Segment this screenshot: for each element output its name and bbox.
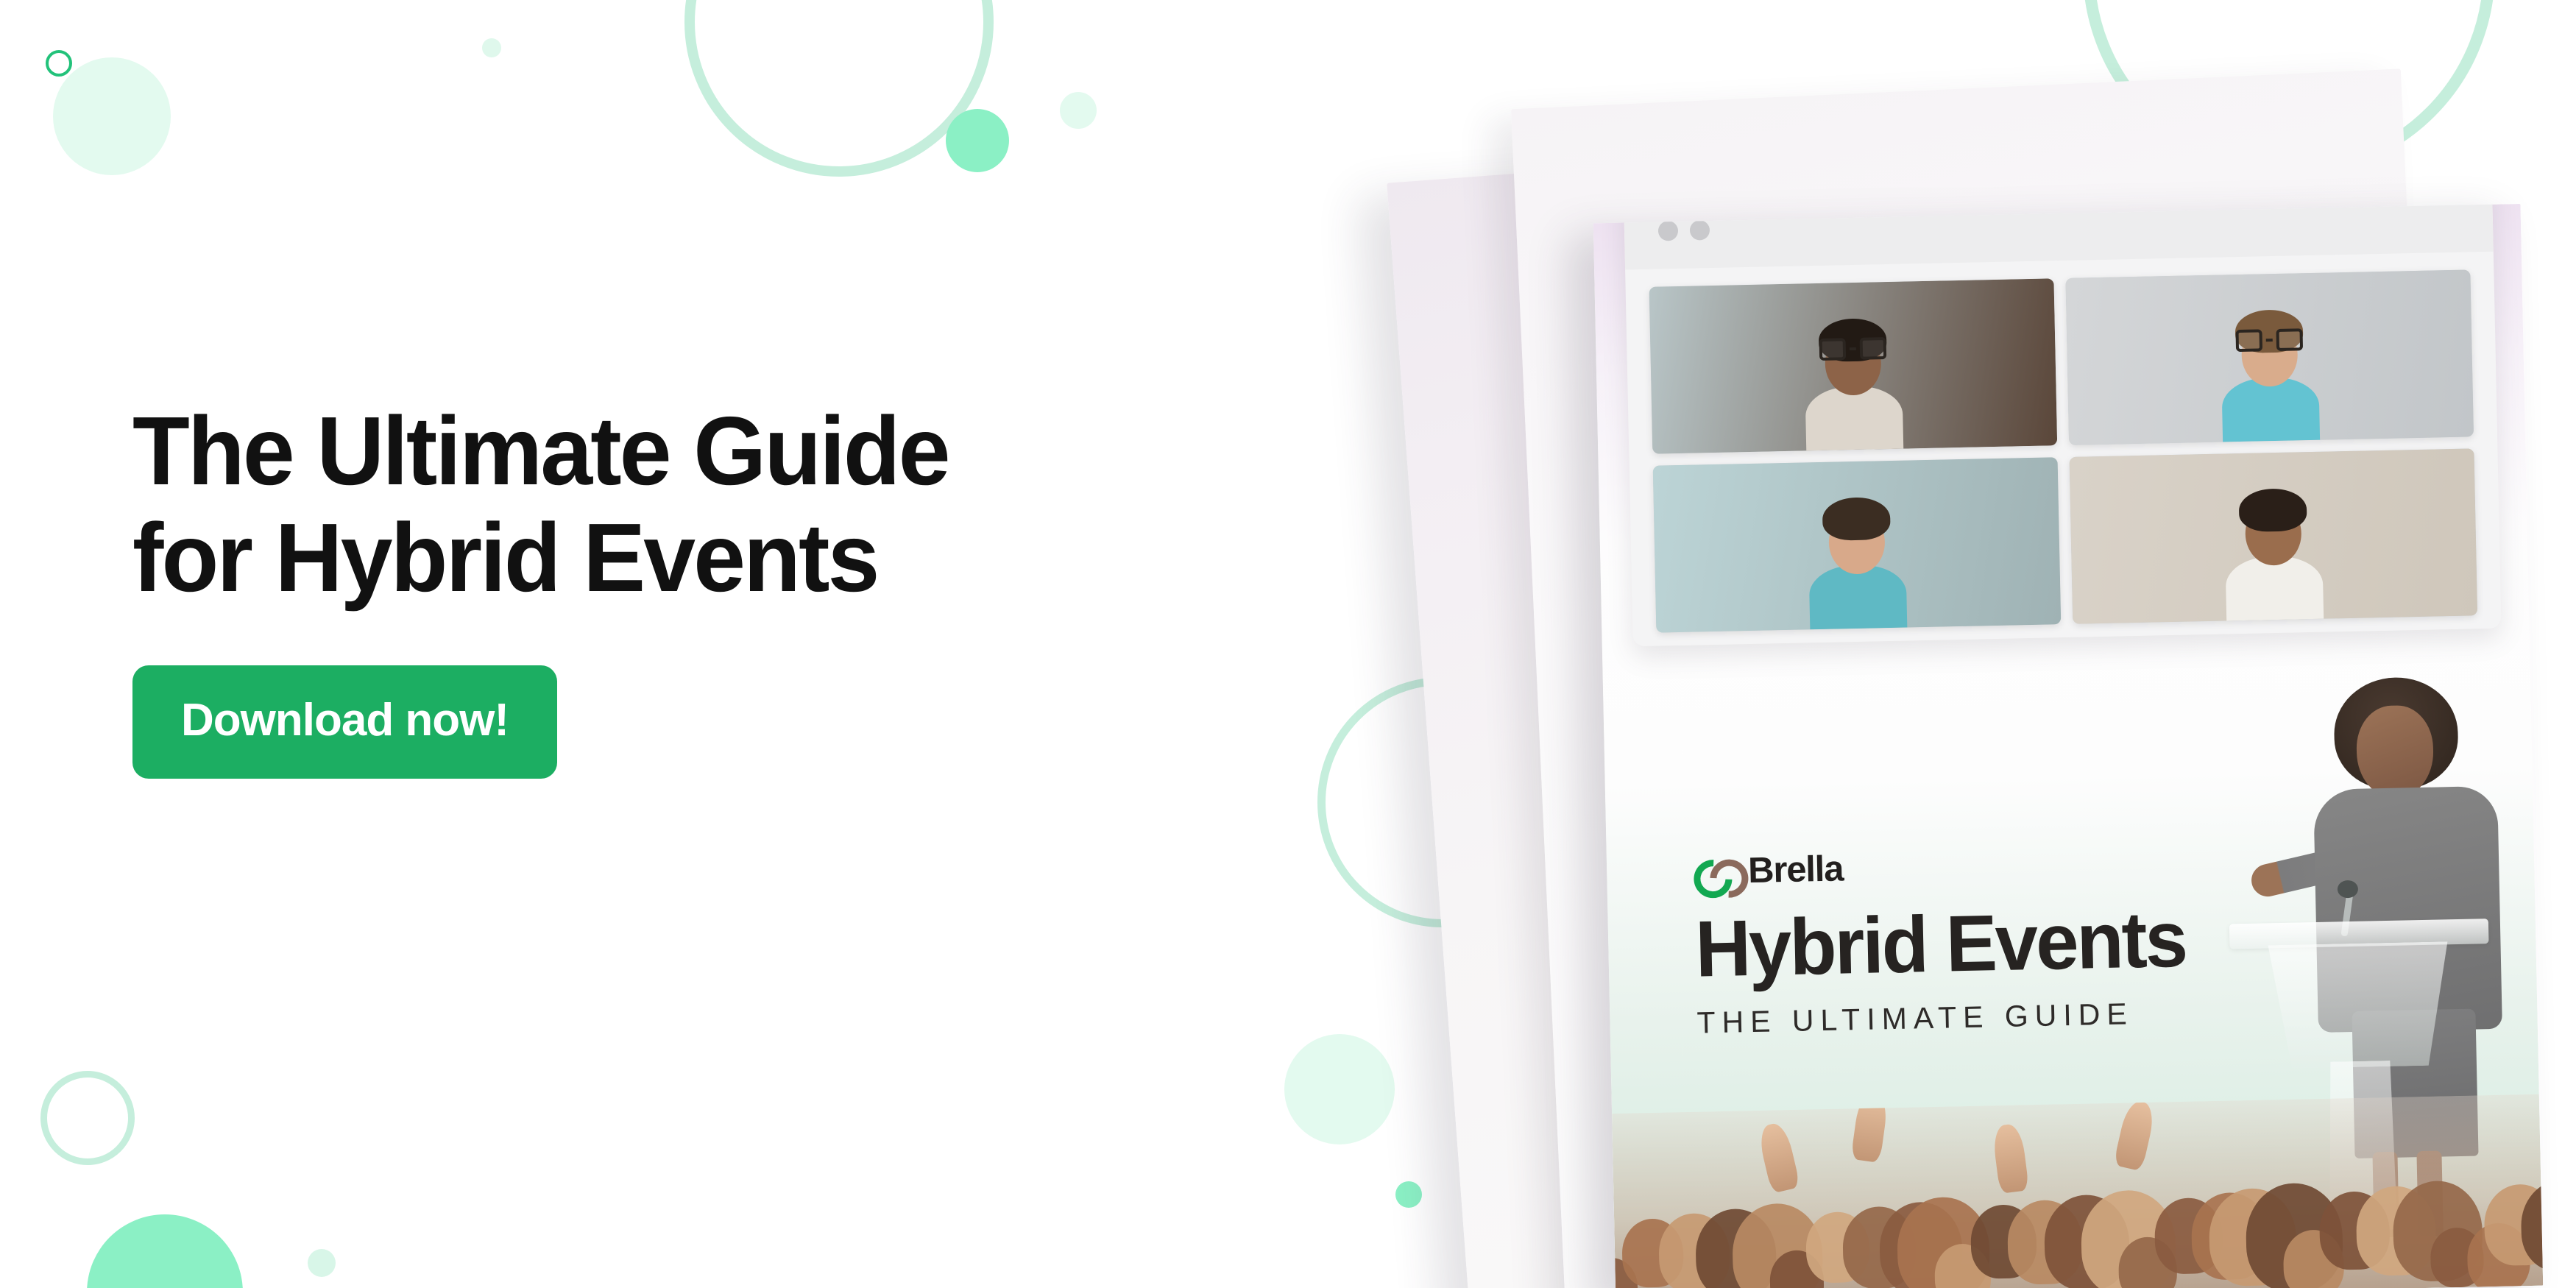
eyeglasses-icon [2235,328,2303,352]
mint-ring-top-center [684,0,994,177]
pale-dot-bottom-left [308,1249,336,1277]
green-outline-circle-top-left [46,50,72,77]
participant-tile [2065,269,2474,445]
cover-title: Hybrid Events [1694,898,2238,988]
pale-dot-top-center [1060,92,1097,129]
crowd-illustration [1612,1094,2543,1288]
mint-solid-circle-bottom-left [87,1214,243,1288]
participant-tile [2070,448,2478,623]
download-now-button[interactable]: Download now! [132,665,557,779]
mint-ring-bottom-left [40,1071,135,1165]
marketing-banner: The Ultimate Guide for Hybrid Events Dow… [0,0,2576,1288]
promo-content: The Ultimate Guide for Hybrid Events Dow… [132,397,1457,779]
eyeglasses-icon [1819,337,1887,361]
cover-subtitle: THE ULTIMATE GUIDE [1696,997,2257,1038]
page-title: The Ultimate Guide for Hybrid Events [132,397,1411,611]
brella-wordmark: Brella [1748,851,1844,889]
participant-tile [1653,457,2062,632]
video-call-window [1624,204,2502,646]
ebook-front-cover: Brella Hybrid Events THE ULTIMATE GUIDE [1593,204,2544,1288]
pale-circle-top-left [53,57,171,175]
brella-interlocking-rings-icon [1694,857,1737,886]
participant-grid [1649,269,2478,632]
pale-dot-top-mid [482,38,501,57]
ebook-mockup: Brella Hybrid Events THE ULTIMATE GUIDE [1384,0,2576,1288]
window-dot-icon [1690,220,1710,241]
pale-circle-center-right [1284,1034,1395,1144]
brella-logo: Brella [1694,843,2254,891]
cover-branding: Brella Hybrid Events THE ULTIMATE GUIDE [1694,843,2257,1038]
window-dot-icon [1658,220,1679,241]
participant-tile [1649,278,2058,453]
mint-solid-circle-top-center [946,109,1009,172]
